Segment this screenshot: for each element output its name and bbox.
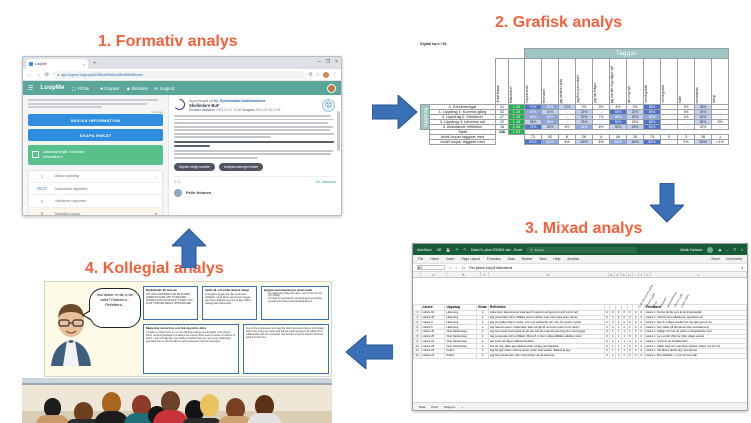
col-header-tag-3: jag fick nya insikter — [576, 59, 593, 105]
clock-icon: ◯ — [72, 86, 77, 91]
whiteboard — [22, 378, 332, 385]
select-all-corner[interactable] — [413, 272, 421, 277]
column-letter[interactable]: D — [489, 272, 609, 277]
arrow-down-grafisk-to-mixad — [650, 183, 684, 223]
app-brand-label: LoopMe — [40, 85, 64, 91]
card-title: Några citat som är bra, som fick mig att… — [146, 327, 236, 330]
autosave-toggle[interactable]: Off — [437, 248, 441, 252]
cancel-icon[interactable]: × — [449, 266, 451, 270]
post-marked-status[interactable]: Ok, markerad — [315, 180, 336, 184]
cell-share: 28% — [695, 140, 712, 145]
app-body: Visa mer SKICKA INFORMATION SKAPA ENKÄT … — [23, 95, 341, 215]
chevron-right-icon[interactable]: › — [156, 174, 157, 179]
stat-value: 1 — [34, 174, 50, 179]
stat-value: 0 — [34, 199, 50, 204]
col-header-tag-11: övrigt — [712, 59, 729, 105]
urlbar-actions[interactable]: ⚲ ☆ ⋮ — [309, 72, 337, 78]
post-author: Pelle Holmen — [186, 190, 211, 195]
cell-share: 36% — [610, 140, 627, 145]
mail-icon: ✉ — [155, 86, 159, 91]
user-name-label: Martin Karlsson — [680, 248, 702, 252]
excel-sheet-tabs[interactable]: Data Pivot Diagram + — [413, 402, 747, 410]
col-header-tag-8: meningslöst — [661, 59, 678, 105]
stat-label: Inskickade rapporter — [55, 187, 152, 191]
mood-smiley-icon: ☹ — [322, 99, 335, 112]
page-title-grafisk: 2. Grafisk analys — [495, 14, 622, 32]
table-row: Taggar — [421, 49, 729, 59]
row-label: 1. Uppdrag 1: Komma igång — [430, 110, 496, 115]
excel-window[interactable]: AutoSave Off 💾 ↶ ↷ Data-KL-pivot 200305.… — [412, 243, 748, 411]
cell-share: 4% — [559, 140, 576, 145]
page-title-formativ: 1. Formativ analys — [98, 33, 238, 51]
browser-window-loopme[interactable]: LoopMe × + – ❐ × ← → ⟳ ● app.loopme.io/g… — [22, 56, 342, 216]
app-feed-panel: ☹ rapporterade på 01. Systematiskt kvali… — [168, 95, 341, 215]
cell-larare[interactable]: Lärare 22 — [421, 353, 445, 358]
slide-root: 1. Formativ analys 2. Grafisk analys 3. … — [0, 0, 751, 423]
post-body-text — [174, 115, 336, 138]
tab-view[interactable]: View — [539, 257, 546, 261]
card-title: Varför då, och varför detta är viktigt — [205, 289, 254, 292]
excel-titlebar: AutoSave Off 💾 ↶ ↷ Data-KL-pivot 200305.… — [413, 244, 747, 255]
calendar-icon — [32, 151, 39, 158]
expand-formula-icon[interactable]: ▾ — [741, 266, 743, 270]
col-header-tag-6: lärt mig nytt — [627, 59, 644, 105]
tab-data[interactable]: Data — [508, 257, 515, 261]
arrow-up-kollegial-to-formativ — [172, 228, 206, 268]
cell-share: 42% — [542, 140, 559, 145]
arrow-right-formativ-to-grafisk — [372, 95, 418, 129]
sheet-tab-diagram[interactable]: Diagram — [444, 405, 455, 409]
audience-shoulder — [36, 415, 69, 423]
post-answer-text — [174, 150, 336, 159]
data-collection-card[interactable]: Datainsamlingår 3 månader Information ▾ — [28, 145, 163, 165]
column-letter[interactable]: B — [447, 272, 481, 277]
col-header-antal-loopar: Antal loopar — [496, 59, 509, 105]
avatar — [174, 189, 182, 197]
create-survey-button[interactable]: SKAPA ENKÄT — [28, 129, 163, 141]
teaser-text — [28, 99, 163, 108]
list-item[interactable]: 28/37 Inskickade rapporter — [29, 183, 162, 195]
row-group-label-uppdrag: Uppdrag — [421, 105, 430, 130]
undo-icon[interactable]: ↶ — [455, 248, 458, 252]
cell-share: 3% — [593, 140, 610, 145]
column-letter[interactable]: A — [421, 272, 447, 277]
url-input[interactable]: ● app.loopme.io/group/6228f1af53bd1cd8b4… — [53, 71, 305, 79]
diag-header: tar tid — [652, 301, 658, 308]
search-input[interactable]: ⚲ Search — [527, 247, 637, 253]
nav-item-bibliotek[interactable]: ◉ Bibliotek — [127, 86, 148, 91]
audience-photo — [22, 378, 332, 423]
close-window-icon[interactable]: × — [741, 248, 743, 252]
stat-label: Negativa loopar — [55, 212, 150, 216]
cell-share: <1% — [712, 140, 729, 145]
post-footer: 1 / 1 Ok, markerad — [174, 176, 336, 184]
new-tab-button[interactable]: + — [93, 59, 97, 69]
stats-list: 1 Aktiva uppdrag › 28/37 Inskickade rapp… — [28, 170, 163, 216]
maximize-icon[interactable]: ❐ — [326, 59, 330, 65]
data-collection-sub: Information ▾ — [43, 155, 63, 159]
excel-filename: Data-KL-pivot 200305.xlsx - Excel — [471, 248, 522, 252]
reload-icon[interactable]: ⟳ — [45, 72, 49, 78]
audience-shoulder — [182, 418, 222, 423]
column-letter[interactable]: L — [651, 272, 747, 277]
browser-tabbar: LoopMe × + – ❐ × — [23, 57, 341, 69]
nav-item-grupper[interactable]: ■ Grupper — [100, 86, 119, 91]
chevron-down-icon[interactable]: ▾ — [155, 211, 157, 216]
tab-formulas[interactable]: Formulas — [487, 257, 501, 261]
cell-binar[interactable]: 2 — [477, 353, 488, 358]
cell-uppdrag[interactable]: Kolla 1 — [445, 353, 477, 358]
nav-item-flode[interactable]: ◯ FlÖde — [72, 86, 94, 91]
cell-share: 2% — [678, 140, 695, 145]
card-title: Nyckelinsikt: Ett mönster — [146, 289, 195, 292]
speech-bubble: Vad tänker ni när ni ser detta? Diskuter… — [89, 288, 141, 328]
tab-acrobat[interactable]: Acrobat — [567, 257, 578, 261]
card-title: Bygden med anledning av denna insikt — [264, 289, 326, 292]
excel-titlebar-right: Martin Karlsson ▦ – ❐ × — [680, 247, 743, 253]
browser-urlbar[interactable]: ← → ⟳ ● app.loopme.io/group/6228f1af53bd… — [23, 69, 341, 81]
card-body: Vi vill gärna bygga upp våra studenters … — [205, 293, 251, 305]
post-question-heading — [174, 141, 336, 146]
card-nyckelinsikt: Nyckelinsikt: Ett mönster ATT VÄGA IGNOR… — [143, 286, 198, 320]
tab-help[interactable]: Help — [554, 257, 561, 261]
cell-share: 19% — [576, 140, 593, 145]
audience-head — [161, 391, 180, 412]
table-row-shares: Andel loopar taggade med 52% 42% 4% 19% … — [421, 140, 729, 145]
table-caption: Digital kurs i KL — [420, 42, 748, 46]
menu-icon[interactable]: ⋮ — [332, 72, 337, 78]
data-collection-title: Datainsamlingår 3 månader — [43, 150, 85, 154]
kollegial-cards: Nyckelinsikt: Ett mönster ATT VÄGA IGNOR… — [143, 286, 328, 373]
minimize-icon[interactable]: – — [726, 248, 728, 252]
ribbon-display-icon[interactable]: ▦ — [718, 248, 721, 252]
close-window-icon[interactable]: × — [335, 59, 338, 65]
app-left-panel: Visa mer SKICKA INFORMATION SKAPA ENKÄT … — [23, 95, 168, 215]
tag-chip[interactable]: Mycket viktigt område — [174, 163, 215, 171]
user-avatar[interactable] — [327, 84, 336, 93]
card-body: One of the interviewees who was the CEO … — [246, 327, 324, 339]
excel-diagonal-headers: svårt att komma igång eleverna gillar ta… — [639, 282, 725, 308]
list-item[interactable]: 1 Aktiva uppdrag › — [29, 171, 162, 183]
cell-reflektion[interactable]: Jag har lyssnat efter plan med struktur … — [488, 353, 604, 358]
card-bygden: Bygden med anledning av denna insikt så … — [261, 286, 329, 320]
col-header-tag-9: svårt — [678, 59, 695, 105]
cell-share: 52% — [525, 140, 542, 145]
user-avatar[interactable] — [707, 247, 713, 253]
col-header-tag-4: jag har frågor — [593, 59, 610, 105]
cell-feedback[interactable]: Lärare 1: Bra reflektion, nu ser det som… — [644, 353, 746, 358]
col-header-tag-2: jag behöver stöd — [559, 59, 576, 105]
stat-label: Väntande rapporter — [55, 199, 152, 203]
post-tags: Mycket viktigt område Analysunderlaget b… — [174, 163, 336, 171]
browser-tab[interactable]: LoopMe × — [26, 59, 88, 69]
card-body: ATT VÄGA IGNORERA VAD DE EXPERT UNDER BY… — [146, 293, 193, 305]
card-citat-right: One of the interviewees who was the CEO … — [243, 324, 329, 374]
excel-ribbon-tabs[interactable]: File Home Insert Page Layout Formulas Da… — [413, 255, 747, 264]
tab-file[interactable]: File — [418, 257, 423, 261]
share-button[interactable]: Share — [711, 257, 720, 261]
lock-icon: ● — [57, 73, 59, 77]
star-icon[interactable]: ☆ — [316, 72, 320, 78]
profile-avatar[interactable] — [323, 72, 329, 78]
close-icon[interactable]: × — [83, 62, 85, 67]
card-varfor: Varför då, och varför detta är viktigt V… — [202, 286, 257, 320]
audience-head — [200, 394, 219, 416]
confirm-icon[interactable]: ✓ — [455, 266, 458, 270]
stat-value: 6 — [34, 211, 50, 216]
app-navbar[interactable]: ☰ LoopMe ◯ FlÖde ■ Grupper ◉ Bibliotek ✉… — [23, 81, 341, 95]
hamburger-icon[interactable]: ☰ — [28, 85, 33, 92]
add-sheet-icon[interactable]: + — [461, 405, 463, 409]
scrollbar-vertical[interactable] — [337, 111, 340, 151]
book-icon: ◉ — [127, 86, 131, 91]
page-title-mixad: 3. Mixad analys — [525, 220, 642, 238]
moon-avatar-icon — [174, 99, 185, 110]
favicon-icon — [29, 62, 33, 66]
redo-icon[interactable]: ↷ — [463, 248, 466, 252]
excel-formula-bar[interactable]: B2 × ✓ ƒx Fler jobbar bra på lektionerna… — [413, 264, 747, 272]
tag-chip[interactable]: Analysunderlaget brister — [219, 163, 263, 171]
card-bullet: uppmana dem att genoms feedback återed — [268, 301, 326, 304]
nav-item-support[interactable]: ✉ Support — [155, 86, 175, 91]
cell-share: - — [661, 140, 678, 145]
col-header-tag-5: jag har lärt mig något nytt — [610, 59, 627, 105]
grafisk-analys-table-panel: Digital kurs i KL Taggar Antal loopar Kl… — [420, 42, 748, 170]
list-item[interactable]: 6 Negativa loopar ▾ — [29, 208, 162, 216]
post-counter: 1 / 1 — [174, 180, 181, 184]
table-row[interactable]: 12 Lärare 22 Kolla 1 2 Jag har lyssnat e… — [414, 353, 747, 358]
search-placeholder: Search — [534, 248, 544, 252]
post-topic[interactable]: 01. Systematiskt kvalitetsarbete — [214, 99, 265, 103]
column-letters-row: A B C D E F G H I J K L — [413, 272, 747, 278]
save-icon[interactable]: 💾 — [446, 248, 450, 252]
name-box[interactable]: B2 — [417, 265, 445, 271]
presenter-photo — [47, 296, 95, 366]
card-citat-left: Några citat som är bra, som fick mig att… — [143, 324, 239, 374]
send-info-button[interactable]: SKICKA INFORMATION — [28, 114, 163, 126]
col-header-tag-0: inspirerande — [525, 59, 542, 105]
autosave-label: AutoSave — [417, 248, 432, 252]
arrow-left-mixad-to-kollegial — [345, 335, 393, 369]
cell-share: 18% — [627, 140, 644, 145]
forward-icon[interactable]: → — [36, 72, 41, 78]
minimize-icon[interactable]: – — [318, 59, 321, 65]
maximize-icon[interactable]: ❐ — [733, 248, 736, 252]
column-letter[interactable]: C — [481, 272, 489, 277]
browser-tab-label: LoopMe — [35, 62, 47, 66]
list-item[interactable]: 0 Väntande rapporter — [29, 195, 162, 207]
url-text: app.loopme.io/group/6228f1af53bd1cd8b4f8… — [61, 73, 143, 77]
col-header-klassindex: Klässindex* — [509, 59, 525, 105]
back-icon[interactable]: ← — [27, 72, 32, 78]
tab-insert[interactable]: Insert — [446, 257, 454, 261]
comments-button[interactable]: Comments — [726, 257, 742, 261]
function-icon[interactable]: ƒx — [462, 266, 465, 270]
search-icon[interactable]: ⚲ — [309, 72, 313, 78]
row-number: 12 — [414, 353, 422, 358]
col-header-tag-7: meningsfullt — [644, 59, 661, 105]
formula-input[interactable]: Fler jobbar bra på lektionerna — [469, 266, 737, 270]
excel-data-table: Lärare Uppdrag Binär Reflektion Feedback… — [413, 304, 747, 359]
window-controls[interactable]: – ❐ × — [318, 59, 338, 65]
stat-value: 28/37 — [34, 186, 50, 191]
tab-home[interactable]: Home — [430, 257, 439, 261]
next-post-preview[interactable]: Pelle Holmen — [174, 189, 336, 197]
col-header-tag-10: utmanande — [695, 59, 712, 105]
card-body: It made me reflect more on my own thinki… — [146, 331, 235, 343]
col-header-tag-1: intressant — [542, 59, 559, 105]
tab-review[interactable]: Review — [522, 257, 533, 261]
sheet-tab-data[interactable]: Data — [419, 405, 425, 409]
cell-share: 55% — [644, 140, 661, 145]
search-icon: ⚲ — [530, 248, 532, 252]
sheet-tab-pivot[interactable]: Pivot — [431, 405, 438, 409]
tab-page-layout[interactable]: Page Layout — [461, 257, 480, 261]
stat-label: Aktiva uppdrag — [55, 174, 151, 178]
excel-grid[interactable]: Lärare Uppdrag Binär Reflektion Feedback… — [413, 304, 747, 359]
notification-dot-icon — [91, 87, 94, 90]
post-header: rapporterade på 01. Systematiskt kvalite… — [174, 99, 336, 112]
tag-matrix-table: Taggar Antal loopar Klässindex* inspirer… — [420, 48, 729, 145]
kollegial-analys-slide: Vad tänker ni när ni ser detta? Diskuter… — [44, 281, 332, 377]
table-header-row: Antal loopar Klässindex* inspirerande in… — [421, 59, 729, 105]
group-icon: ■ — [100, 86, 103, 91]
share-label: Andel loopar taggade med — [430, 140, 496, 145]
taggar-group-header: Taggar — [525, 49, 729, 59]
